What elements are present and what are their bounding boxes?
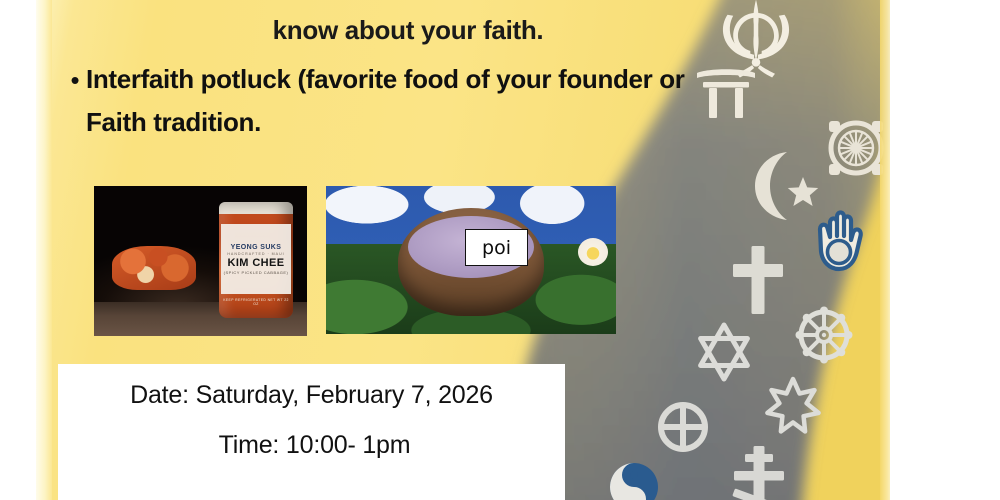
dharma-wheel-ring-icon — [829, 121, 883, 175]
bullet-item: • Interfaith potluck (favorite food of y… — [58, 58, 758, 144]
event-date-line: Date: Saturday, February 7, 2026 — [58, 370, 565, 420]
sun-cross-icon — [661, 405, 705, 449]
slide-screenshot: know about your faith. • Interfaith potl… — [0, 0, 1000, 500]
event-time-line: Time: 10:00- 1pm — [58, 420, 565, 470]
kim-chee-jar: YEONG SUKS HANDCRAFTED · MAUI KIM CHEE (… — [219, 202, 293, 318]
slide-right-edge-highlight — [880, 0, 890, 500]
headline-continuation: know about your faith. — [58, 8, 758, 52]
orthodox-cross-icon — [732, 446, 784, 500]
kim-chee-jar-label: YEONG SUKS HANDCRAFTED · MAUI KIM CHEE (… — [221, 224, 291, 294]
plumeria-flower-icon — [578, 238, 608, 266]
presentation-slide: know about your faith. • Interfaith potl… — [36, 0, 890, 500]
jar-brand-text: YEONG SUKS — [231, 244, 282, 251]
kim-chee-food — [112, 246, 196, 290]
jar-footer-text: KEEP REFRIGERATED NET WT 22 OZ — [222, 298, 290, 306]
slide-left-edge-highlight — [36, 0, 52, 500]
star-and-crescent-icon — [755, 152, 818, 220]
jain-ahimsa-hand-icon — [820, 213, 861, 270]
kim-chee-photo: YEONG SUKS HANDCRAFTED · MAUI KIM CHEE (… — [94, 186, 307, 336]
event-details-box: Date: Saturday, February 7, 2026 Time: 1… — [58, 364, 565, 500]
bullet-marker: • — [64, 58, 86, 102]
jar-product-desc: (SPICY PICKLED CABBAGE) — [224, 270, 289, 275]
latin-cross-icon — [733, 246, 783, 314]
dharmachakra-icon — [796, 307, 853, 364]
jar-sub-text: HANDCRAFTED · MAUI — [227, 252, 284, 256]
nine-pointed-star-icon — [767, 379, 818, 431]
poi-label-box: poi — [465, 229, 528, 266]
poi-label-text: poi — [482, 237, 511, 259]
slide-body-text: know about your faith. • Interfaith potl… — [58, 0, 758, 144]
star-of-david-icon — [701, 325, 748, 379]
bullet-text: Interfaith potluck (favorite food of you… — [86, 58, 726, 144]
yin-yang-icon — [610, 463, 658, 500]
cut-off-text-line — [58, 0, 758, 8]
jar-product-name: KIM CHEE — [228, 257, 285, 269]
poi-photo: poi — [326, 186, 616, 334]
